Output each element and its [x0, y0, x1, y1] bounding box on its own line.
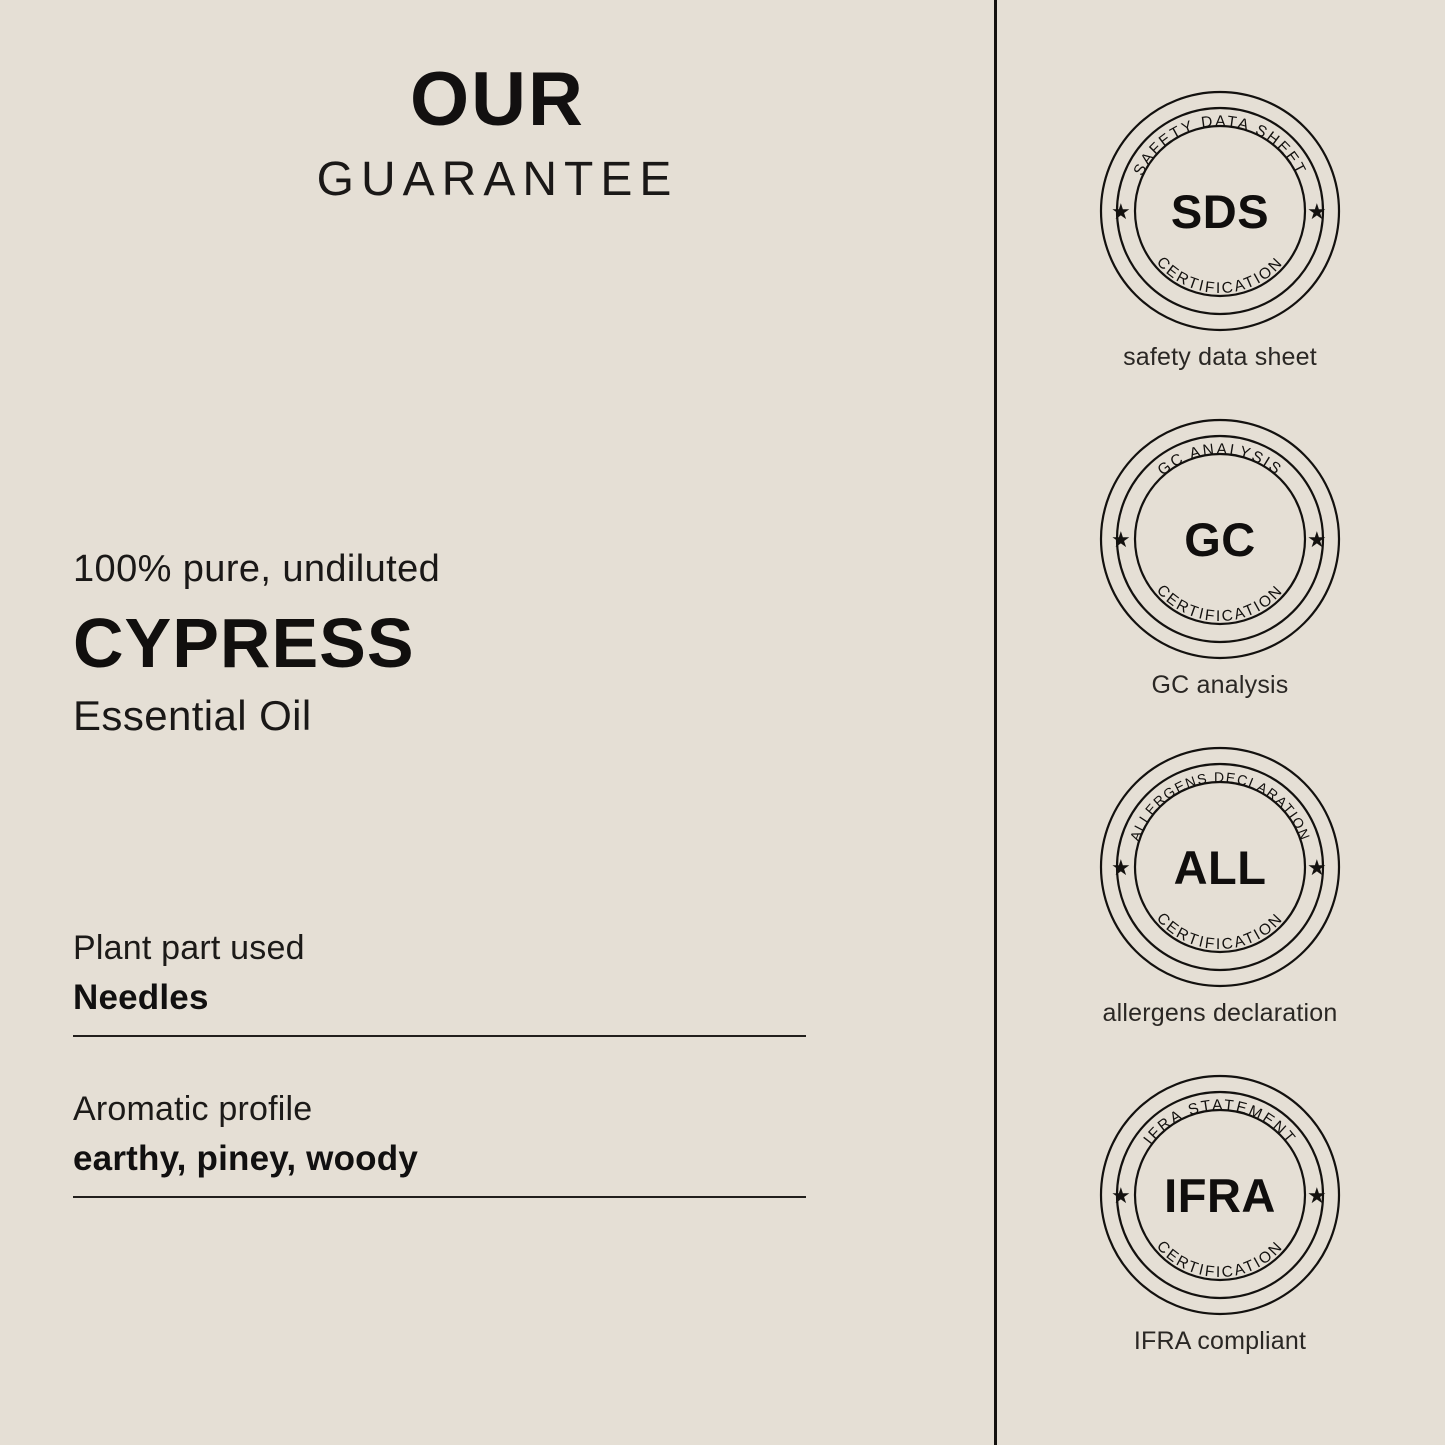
seal-top-arc-text: SAFETY DATA SHEET	[1131, 113, 1310, 179]
star-right-icon: ★	[1307, 1183, 1327, 1208]
spec-row: Aromatic profile earthy, piney, woody	[73, 1089, 806, 1198]
certification-badge: IFRA STATEMENT CERTIFICATION ★ ★ IFRA IF…	[995, 1072, 1445, 1356]
spec-row: Plant part used Needles	[73, 928, 806, 1037]
seal-abbreviation: IFRA	[1164, 1169, 1276, 1222]
seal-bottom-arc-text: CERTIFICATION	[1153, 910, 1287, 954]
title-our: OUR	[0, 62, 995, 138]
left-column: OUR GUARANTEE 100% pure, undiluted CYPRE…	[0, 0, 995, 1445]
seal-ifra-icon: IFRA STATEMENT CERTIFICATION ★ ★ IFRA	[1097, 1072, 1343, 1318]
product-type: Essential Oil	[73, 693, 873, 739]
guarantee-page: OUR GUARANTEE 100% pure, undiluted CYPRE…	[0, 0, 1445, 1445]
star-left-icon: ★	[1111, 1183, 1131, 1208]
spec-value: earthy, piney, woody	[73, 1138, 806, 1180]
star-right-icon: ★	[1307, 527, 1327, 552]
star-left-icon: ★	[1111, 527, 1131, 552]
seal-abbreviation: SDS	[1171, 185, 1269, 238]
spec-value: Needles	[73, 977, 806, 1019]
spec-label: Aromatic profile	[73, 1089, 806, 1130]
seal-bottom-arc-text: CERTIFICATION	[1153, 254, 1287, 298]
badge-caption: safety data sheet	[1123, 342, 1317, 372]
star-right-icon: ★	[1307, 199, 1327, 224]
seal-gc-icon: GC ANALYSIS CERTIFICATION ★ ★ GC	[1097, 416, 1343, 662]
badge-caption: allergens declaration	[1103, 998, 1338, 1028]
certification-badge-list: SAFETY DATA SHEET CERTIFICATION ★ ★ SDS …	[995, 88, 1445, 1356]
badge-caption: GC analysis	[1152, 670, 1289, 700]
star-left-icon: ★	[1111, 199, 1131, 224]
seal-bottom-arc-text: CERTIFICATION	[1153, 582, 1287, 626]
seal-top-arc-text: ALLERGENS DECLARATION	[1126, 769, 1313, 843]
right-column: SAFETY DATA SHEET CERTIFICATION ★ ★ SDS …	[995, 0, 1445, 1445]
seal-all-icon: ALLERGENS DECLARATION CERTIFICATION ★ ★ …	[1097, 744, 1343, 990]
seal-bottom-arc-text: CERTIFICATION	[1153, 1238, 1287, 1282]
badge-caption: IFRA compliant	[1134, 1326, 1306, 1356]
star-right-icon: ★	[1307, 855, 1327, 880]
certification-badge: ALLERGENS DECLARATION CERTIFICATION ★ ★ …	[995, 744, 1445, 1028]
title-guarantee: GUARANTEE	[0, 156, 995, 204]
page-title: OUR GUARANTEE	[0, 62, 995, 204]
spec-divider	[73, 1196, 806, 1198]
seal-abbreviation: GC	[1184, 513, 1256, 566]
spec-label: Plant part used	[73, 928, 806, 969]
product-block: 100% pure, undiluted CYPRESS Essential O…	[73, 548, 873, 739]
seal-abbreviation: ALL	[1174, 841, 1267, 894]
star-left-icon: ★	[1111, 855, 1131, 880]
seal-sds-icon: SAFETY DATA SHEET CERTIFICATION ★ ★ SDS	[1097, 88, 1343, 334]
product-name: CYPRESS	[73, 608, 873, 679]
certification-badge: GC ANALYSIS CERTIFICATION ★ ★ GC GC anal…	[995, 416, 1445, 700]
certification-badge: SAFETY DATA SHEET CERTIFICATION ★ ★ SDS …	[995, 88, 1445, 372]
spec-list: Plant part used Needles Aromatic profile…	[73, 928, 806, 1198]
spec-divider	[73, 1035, 806, 1037]
seal-top-arc-text: IFRA STATEMENT	[1141, 1097, 1300, 1148]
product-purity-text: 100% pure, undiluted	[73, 548, 873, 592]
